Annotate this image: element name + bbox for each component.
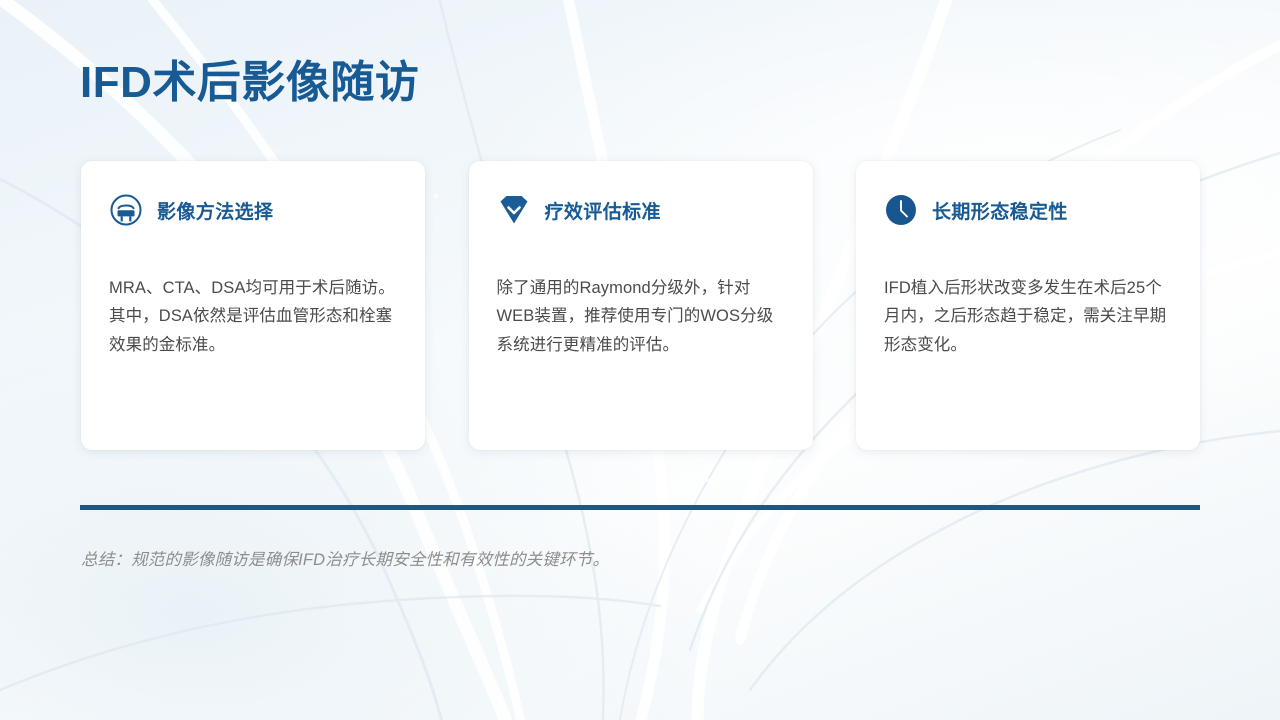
card-header: 疗效评估标准	[497, 190, 785, 230]
card-efficacy-criteria[interactable]: 疗效评估标准 除了通用的Raymond分级外，针对WEB装置，推荐使用专门的WO…	[469, 161, 813, 450]
summary-note: 总结：规范的影像随访是确保IFD治疗长期安全性和有效性的关键环节。	[81, 546, 609, 570]
card-header: 影像方法选择	[109, 190, 397, 230]
card-title: 影像方法选择	[157, 197, 273, 224]
card-body: 除了通用的Raymond分级外，针对WEB装置，推荐使用专门的WOS分级系统进行…	[497, 274, 785, 359]
card-row: 影像方法选择 MRA、CTA、DSA均可用于术后随访。其中，DSA依然是评估血管…	[81, 161, 1200, 450]
shield-check-icon	[497, 193, 531, 227]
card-longterm-stability[interactable]: 长期形态稳定性 IFD植入后形状改变多发生在术后25个月内，之后形态趋于稳定，需…	[856, 161, 1200, 450]
card-header: 长期形态稳定性	[884, 190, 1172, 230]
clock-icon	[884, 193, 918, 227]
scanner-icon	[109, 193, 143, 227]
card-body: MRA、CTA、DSA均可用于术后随访。其中，DSA依然是评估血管形态和栓塞效果…	[109, 274, 397, 359]
card-title: 长期形态稳定性	[932, 197, 1068, 224]
card-title: 疗效评估标准	[545, 197, 661, 224]
card-imaging-method[interactable]: 影像方法选择 MRA、CTA、DSA均可用于术后随访。其中，DSA依然是评估血管…	[81, 161, 425, 450]
card-body: IFD植入后形状改变多发生在术后25个月内，之后形态趋于稳定，需关注早期形态变化…	[884, 274, 1172, 359]
page-title: IFD术后影像随访	[80, 58, 419, 109]
section-divider	[80, 505, 1200, 510]
slide-canvas: IFD术后影像随访 影像方法选择 MRA、CTA、DSA均可用于术后随访。其中，…	[0, 0, 1280, 720]
